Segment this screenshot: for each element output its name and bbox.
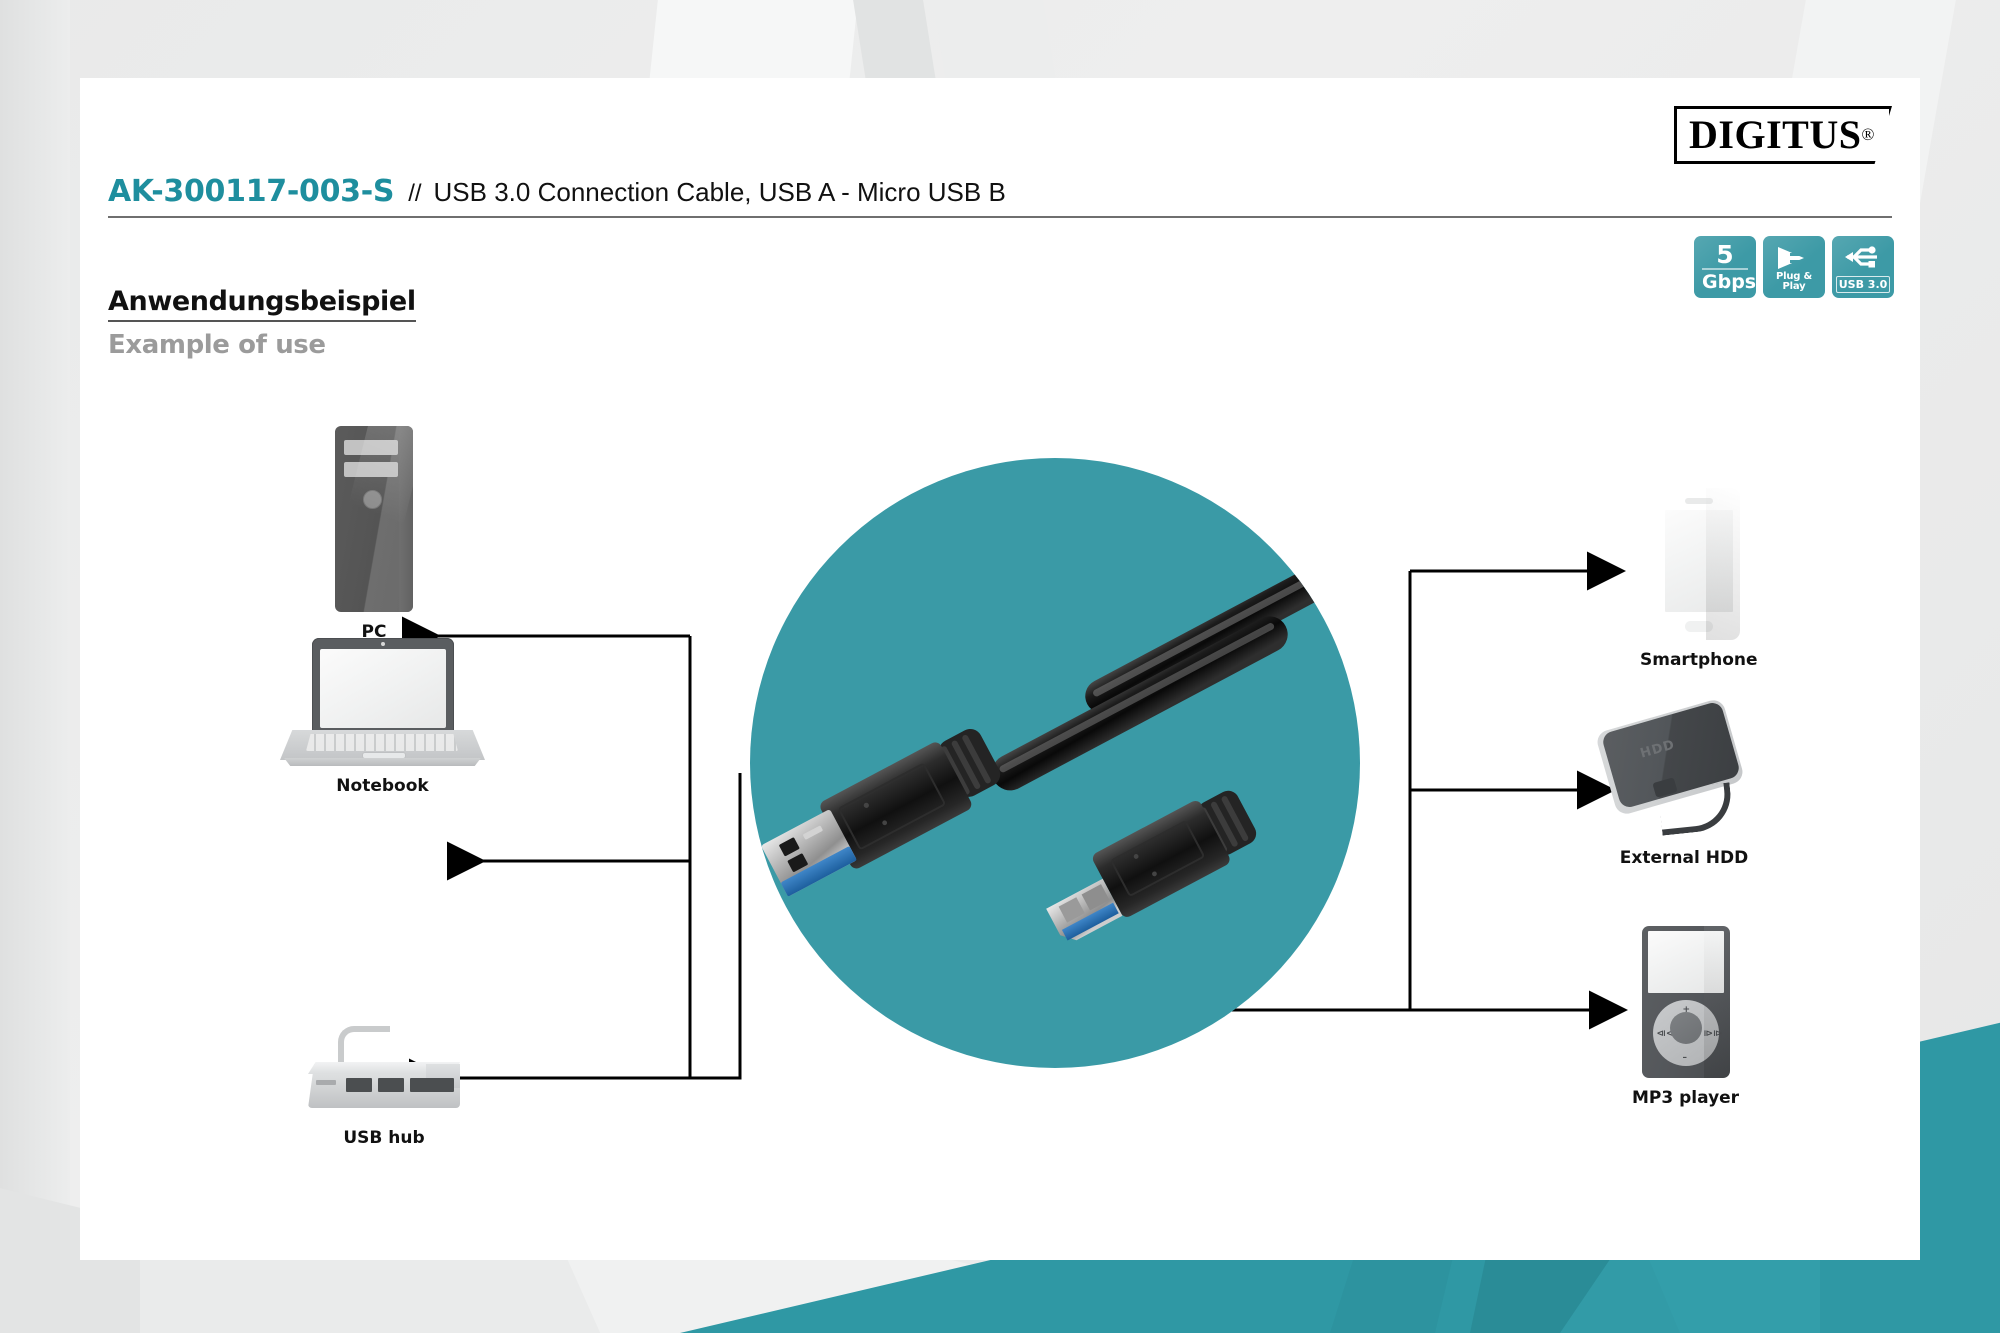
usb-cable-photo [750,458,1360,1068]
product-sku: AK-300117-003-S [108,174,394,209]
device-mp3-player: + – ⧏⧏ ⧐⧐ MP3 player [1632,926,1739,1108]
smartphone-icon [1658,488,1740,640]
content-card: DIGITUS® AK-300117-003-S // USB 3.0 Conn… [80,78,1920,1260]
usb3-badge: USB 3.0 [1832,236,1894,298]
background-left-edge [0,0,70,1333]
usb-hub-icon [300,1026,468,1118]
mp3-player-icon: + – ⧏⧏ ⧐⧐ [1642,926,1730,1078]
registered-trademark-icon: ® [1861,125,1874,145]
external-hdd-icon: HDD [1598,710,1770,838]
speed-badge: 5 Gbps [1694,236,1756,298]
title-separator: // [408,180,421,208]
device-smartphone: Smartphone [1640,488,1758,670]
device-external-hdd: HDD External HDD [1598,710,1770,868]
speed-badge-value: 5 [1716,242,1733,267]
laptop-icon [280,638,485,766]
arrow-right-icon [1763,244,1825,272]
plug-and-play-badge-caption: Plug & Play [1763,272,1825,292]
device-notebook: Notebook [280,638,485,796]
page-canvas: DIGITUS® AK-300117-003-S // USB 3.0 Conn… [0,0,2000,1333]
product-title: USB 3.0 Connection Cable, USB A - Micro … [434,177,1006,208]
device-usb-hub-label: USB hub [343,1128,424,1148]
device-smartphone-label: Smartphone [1640,650,1758,670]
application-diagram: PC Notebook [80,378,1920,1198]
device-usb-hub: USB hub [300,1026,468,1148]
device-mp3-player-label: MP3 player [1632,1088,1739,1108]
device-external-hdd-label: External HDD [1620,848,1748,868]
speed-badge-unit: Gbps [1702,268,1748,292]
logo-wordmark: DIGITUS [1689,115,1861,155]
mp3-volume-down-label: – [1683,1054,1688,1063]
usb3-badge-caption: USB 3.0 [1836,276,1890,293]
device-notebook-label: Notebook [336,776,428,796]
digitus-logo: DIGITUS® [1674,106,1892,164]
wire-left-trunk [690,773,740,1078]
desktop-tower-icon [335,426,413,612]
device-pc: PC [335,426,413,642]
section-heading-en: Example of use [108,330,326,360]
plug-and-play-badge: Plug & Play [1763,236,1825,298]
usb-trident-icon [1832,244,1894,270]
section-heading-de: Anwendungsbeispiel [108,286,416,322]
product-title-bar: AK-300117-003-S // USB 3.0 Connection Ca… [108,174,1892,218]
feature-badge-group: 5 Gbps Plug & Play [1694,236,1894,298]
